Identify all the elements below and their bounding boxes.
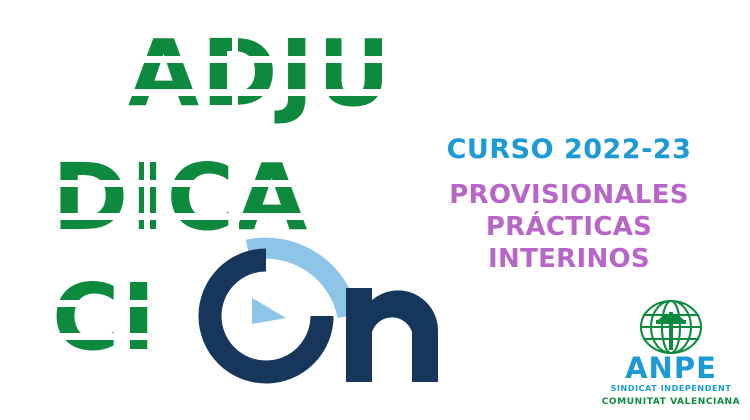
course-label: CURSO 2022-23 xyxy=(416,134,722,165)
anpe-subtitle-sindicat: SINDICAT INDEPENDENT xyxy=(600,384,742,393)
letter-n xyxy=(346,288,438,382)
poster-canvas: ADJU DICA CI CURSO 2022-23 PROVISIONALES… xyxy=(0,0,750,420)
anpe-wordmark: ANPE xyxy=(600,354,742,383)
category-provisionales: PROVISIONALES xyxy=(416,180,722,210)
anpe-logo: ANPE SINDICAT INDEPENDENT COMUNITAT VALE… xyxy=(600,298,742,414)
headline-line-ci: CI xyxy=(52,272,158,364)
category-interinos: INTERINOS xyxy=(416,244,722,274)
anpe-globe-icon xyxy=(600,298,742,356)
anpe-subtitle-comunitat: COMUNITAT VALENCIANA xyxy=(600,397,742,407)
play-triangle-icon xyxy=(252,298,286,324)
o-ring-lower-right xyxy=(308,316,322,353)
headline-line-adju: ADJU xyxy=(128,28,393,120)
category-practicas: PRÁCTICAS xyxy=(416,212,722,242)
